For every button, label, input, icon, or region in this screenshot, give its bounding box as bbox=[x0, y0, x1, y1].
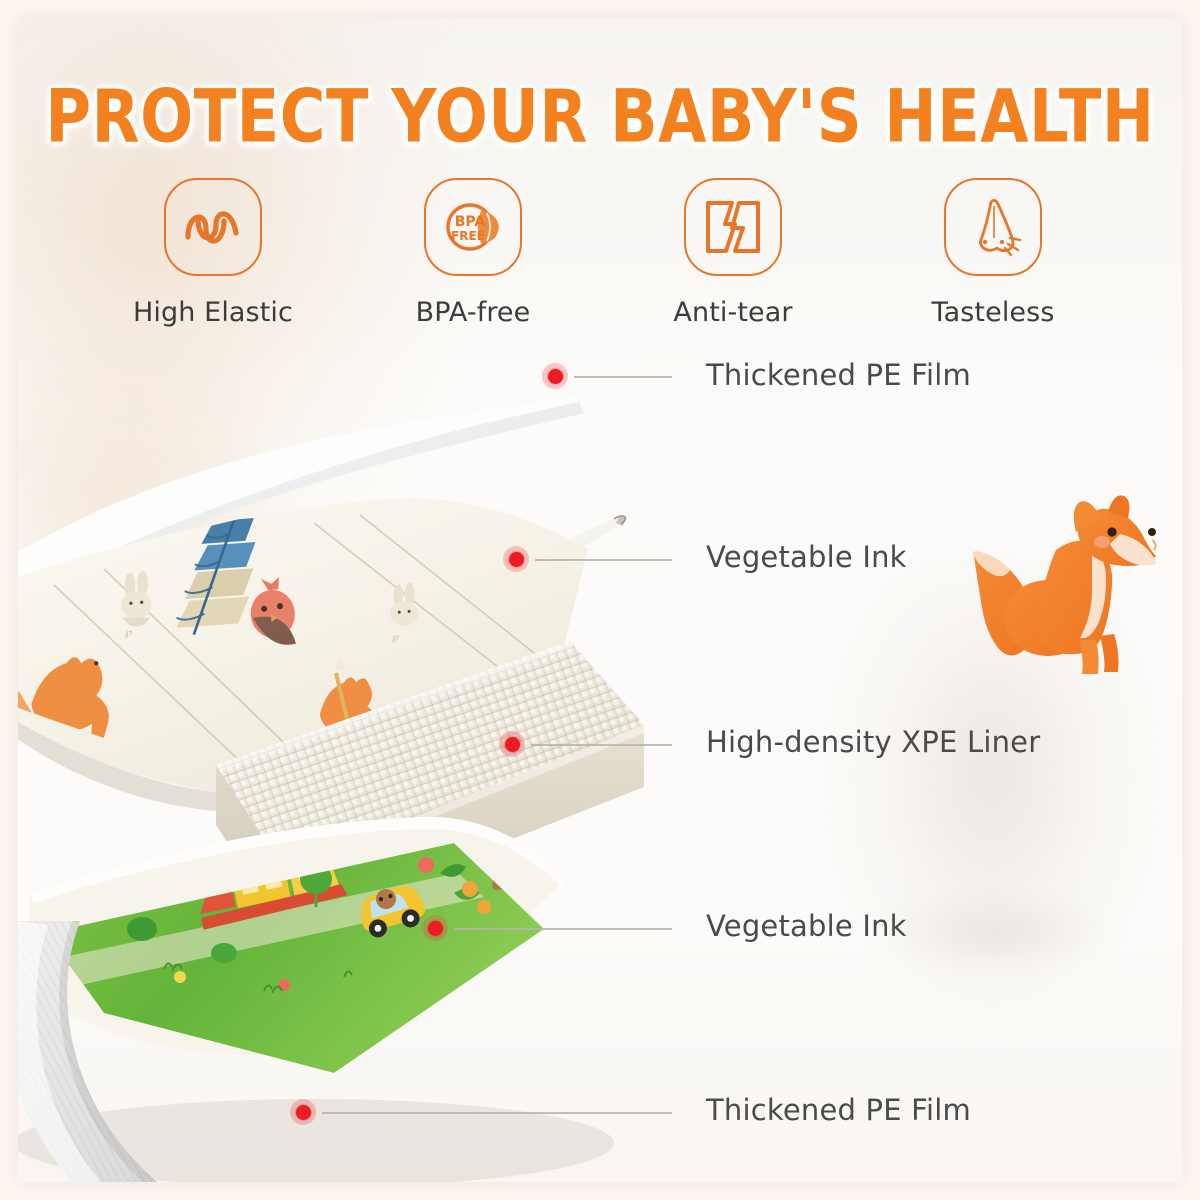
layer-bottom-printed-sheet bbox=[26, 817, 566, 1073]
svg-text:FREE: FREE bbox=[451, 229, 485, 243]
photo-panel: ℘ bbox=[18, 18, 1182, 1182]
elastic-wave-icon bbox=[164, 178, 262, 276]
feature-tasteless[interactable]: Tasteless bbox=[888, 178, 1098, 328]
callout-label: Thickened PE Film bbox=[706, 358, 971, 392]
svg-text:℘: ℘ bbox=[392, 632, 399, 643]
page-title: PROTECT YOUR BABY'S HEALTH bbox=[24, 74, 1176, 159]
infographic-canvas: ℘ bbox=[0, 0, 1200, 1200]
feature-badges-row: High Elastic BPA FREE BPA-free bbox=[108, 178, 1098, 348]
callout-dot bbox=[290, 1099, 316, 1125]
callout-line bbox=[531, 744, 672, 746]
callout-label: High-density XPE Liner bbox=[706, 725, 1040, 759]
feature-high-elastic[interactable]: High Elastic bbox=[108, 178, 318, 328]
torn-sheet-icon bbox=[684, 178, 782, 276]
fox-illustration bbox=[960, 490, 1170, 690]
feature-label: High Elastic bbox=[133, 297, 293, 328]
callout-line bbox=[454, 928, 672, 930]
bpa-free-leaf-icon: BPA FREE bbox=[424, 178, 522, 276]
feature-label: Anti-tear bbox=[673, 297, 792, 328]
svg-text:℘: ℘ bbox=[125, 627, 133, 639]
callout-label: Thickened PE Film bbox=[706, 1093, 971, 1127]
svg-text:BPA: BPA bbox=[455, 214, 486, 230]
callout-line bbox=[322, 1112, 672, 1114]
product-photo-play-mat: ℘ bbox=[18, 373, 704, 1173]
callout-dot bbox=[499, 731, 525, 757]
callout-dot bbox=[503, 546, 529, 572]
callout-dot bbox=[542, 363, 568, 389]
nose-smell-icon bbox=[944, 178, 1042, 276]
callout-label: Vegetable Ink bbox=[706, 540, 907, 574]
callout-label: Vegetable Ink bbox=[706, 909, 907, 943]
feature-bpa-free[interactable]: BPA FREE BPA-free bbox=[368, 178, 578, 328]
callout-line bbox=[574, 376, 672, 378]
feature-label: BPA-free bbox=[416, 297, 531, 328]
callout-line bbox=[535, 559, 672, 561]
feature-label: Tasteless bbox=[932, 297, 1055, 328]
feature-anti-tear[interactable]: Anti-tear bbox=[628, 178, 838, 328]
callout-dot bbox=[422, 915, 448, 941]
